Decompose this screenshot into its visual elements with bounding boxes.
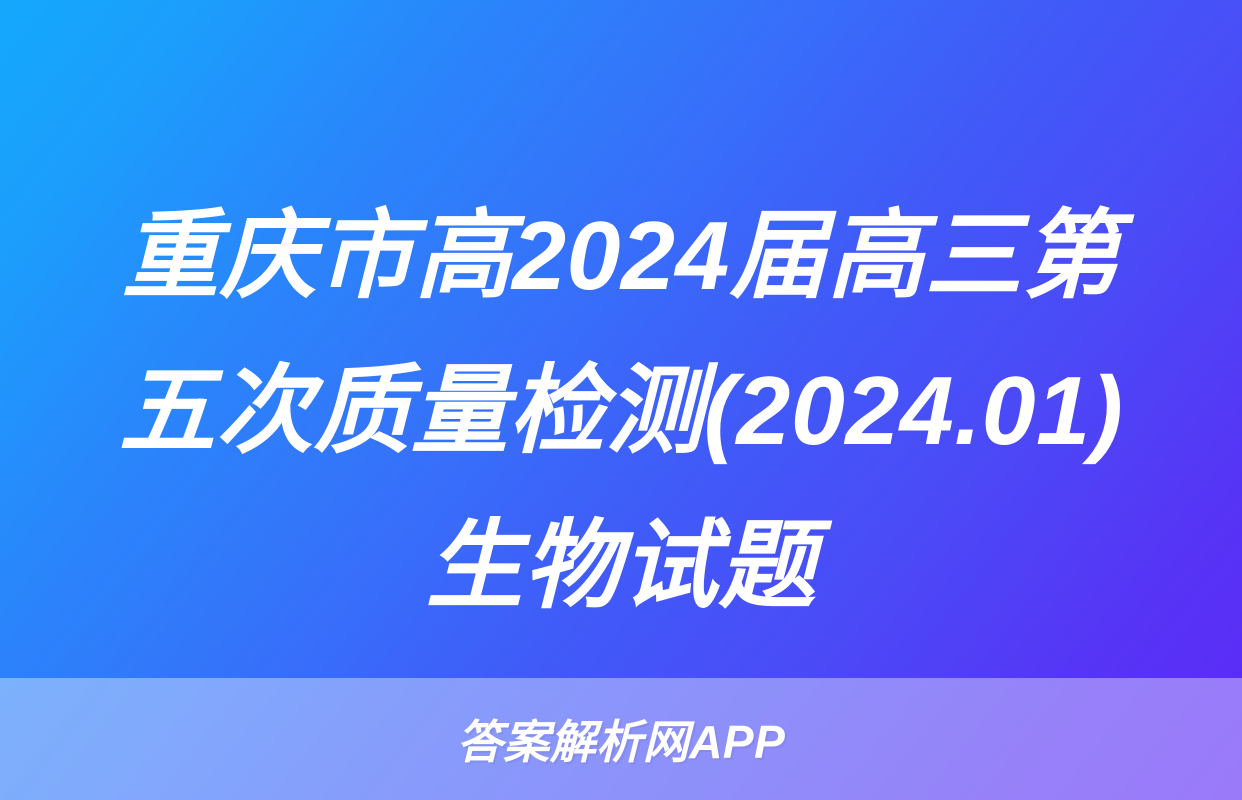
title-line-1: 重庆市高2024届高三第 — [46, 178, 1196, 333]
page-title: 重庆市高2024届高三第 五次质量检测(2024.01) 生物试题 — [0, 178, 1242, 643]
exam-cover-card: 重庆市高2024届高三第 五次质量检测(2024.01) 生物试题 答案解析网A… — [0, 0, 1242, 800]
title-line-2: 五次质量检测(2024.01) — [46, 333, 1196, 488]
title-line-3: 生物试题 — [46, 488, 1196, 643]
app-watermark-label: 答案解析网APP — [457, 706, 786, 772]
footer-watermark-band: 答案解析网APP — [0, 678, 1242, 800]
